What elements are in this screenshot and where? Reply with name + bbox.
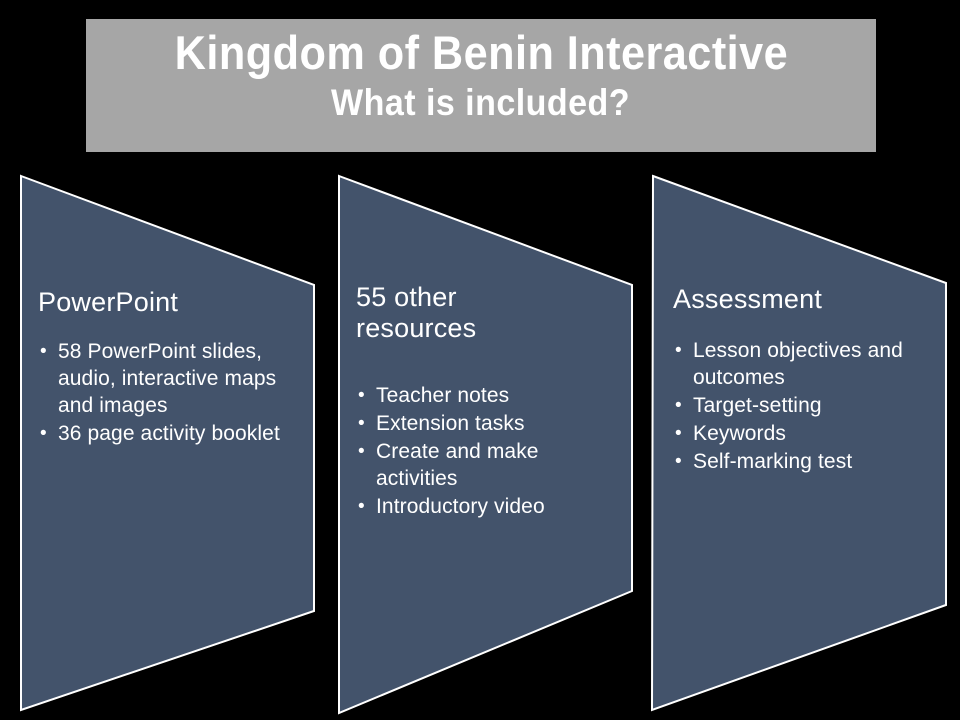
panel-heading: Assessment — [673, 284, 822, 315]
panel-heading: 55 other resources — [356, 282, 556, 344]
panel-content: Assessment Lesson objectives and outcome… — [640, 170, 950, 720]
bullet-list: Lesson objectives and outcomes Target-se… — [673, 337, 943, 476]
slide-canvas: Kingdom of Benin Interactive What is inc… — [0, 0, 960, 720]
bullet-list: 58 PowerPoint slides, audio, interactive… — [38, 338, 300, 448]
list-item: Lesson objectives and outcomes — [673, 337, 943, 391]
panel-content: 55 other resources Teacher notes Extensi… — [326, 170, 636, 720]
list-item: Extension tasks — [356, 410, 611, 437]
list-item: Self-marking test — [673, 448, 943, 475]
panel-resources[interactable]: 55 other resources Teacher notes Extensi… — [326, 170, 636, 720]
list-item: Keywords — [673, 420, 943, 447]
title-banner: Kingdom of Benin Interactive What is inc… — [86, 19, 876, 152]
list-item: 58 PowerPoint slides, audio, interactive… — [38, 338, 300, 419]
list-item: Create and make activities — [356, 438, 611, 492]
panel-heading: PowerPoint — [38, 287, 178, 318]
page-title: Kingdom of Benin Interactive — [174, 25, 787, 81]
page-subtitle: What is included? — [331, 81, 630, 125]
bullet-list: Teacher notes Extension tasks Create and… — [356, 382, 611, 521]
list-item: Teacher notes — [356, 382, 611, 409]
list-item: 36 page activity booklet — [38, 420, 300, 447]
list-item: Introductory video — [356, 493, 611, 520]
list-item: Target-setting — [673, 392, 943, 419]
panel-powerpoint[interactable]: PowerPoint 58 PowerPoint slides, audio, … — [8, 170, 318, 720]
panel-assessment[interactable]: Assessment Lesson objectives and outcome… — [640, 170, 950, 720]
panel-content: PowerPoint 58 PowerPoint slides, audio, … — [8, 170, 318, 720]
